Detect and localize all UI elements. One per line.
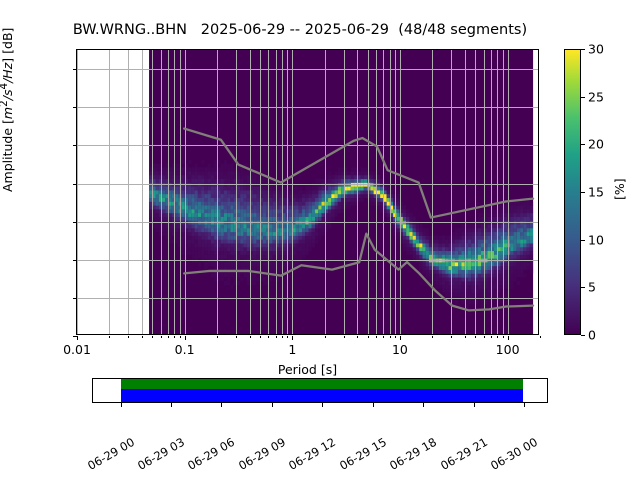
noise-model-curves [77, 50, 538, 334]
time-band-blue [121, 389, 523, 402]
x-axis-tick [250, 336, 251, 338]
x-axis-tick [508, 336, 509, 340]
x-axis-tick [217, 336, 218, 338]
x-axis-tick [142, 336, 143, 338]
x-axis-tick [268, 336, 269, 338]
time-axis-tick-label: 06-29 18 [387, 435, 439, 473]
y-axis-tick [73, 145, 77, 146]
y-axis-tick [73, 336, 77, 337]
time-axis-tick [171, 403, 172, 407]
colorbar-label: [%] [612, 178, 627, 200]
x-axis-tick [260, 336, 261, 338]
x-axis-tick [390, 336, 391, 338]
colorbar-tick-label: 30 [588, 42, 604, 57]
colorbar-tick [581, 335, 585, 336]
y-axis-tick [73, 298, 77, 299]
time-axis-tick-label: 06-29 12 [287, 435, 339, 473]
x-axis-label: Period [s] [77, 362, 538, 377]
y-axis-tick [73, 107, 77, 108]
x-axis-tick [368, 336, 369, 338]
x-axis-tick-label: 0.1 [175, 342, 195, 357]
time-axis-tick [322, 403, 323, 407]
x-axis-tick [475, 336, 476, 338]
colorbar-tick-label: 5 [588, 280, 596, 295]
colorbar-tick [581, 240, 585, 241]
colorbar-tick-label: 10 [588, 232, 604, 247]
time-axis-tick-label: 06-29 09 [236, 435, 288, 473]
x-axis-tick [185, 336, 186, 340]
x-axis-tick [484, 336, 485, 338]
time-coverage-canvas [93, 379, 547, 402]
y-axis-tick [73, 184, 77, 185]
x-axis-tick [77, 336, 78, 340]
x-axis-tick-label: 100 [496, 342, 520, 357]
x-axis-tick [292, 336, 293, 340]
x-axis-tick [109, 336, 110, 338]
x-axis-tick [287, 336, 288, 338]
y-axis-label-text: Amplitude [m2/s4/Hz] [dB] [0, 28, 15, 192]
ppsd-plot-area: 0.010.1110100 −60−80−100−120−140−160−180… [76, 49, 539, 335]
colorbar-tick-label: 0 [588, 328, 596, 343]
time-axis-tick-label: 06-29 03 [135, 435, 187, 473]
time-axis-tick [524, 403, 525, 407]
x-axis-tick [376, 336, 377, 338]
x-axis-tick [451, 336, 452, 338]
x-axis-tick [282, 336, 283, 338]
x-axis-tick [497, 336, 498, 338]
x-axis-tick-label: 10 [392, 342, 408, 357]
time-axis-tick [423, 403, 424, 407]
x-axis-tick [465, 336, 466, 338]
x-axis-tick [432, 336, 433, 338]
x-axis-tick [357, 336, 358, 338]
x-axis-tick-label: 0.01 [63, 342, 91, 357]
x-axis-tick [161, 336, 162, 338]
time-band-green [121, 379, 523, 389]
x-axis-tick [344, 336, 345, 338]
x-axis-tick [325, 336, 326, 338]
ppsd-canvas [77, 50, 538, 334]
colorbar-tick-label: 20 [588, 137, 604, 152]
x-axis-tick [276, 336, 277, 338]
colorbar-tick [581, 49, 585, 50]
x-axis-tick [236, 336, 237, 338]
x-axis-tick [128, 336, 129, 338]
colorbar [564, 49, 581, 335]
x-axis-tick [174, 336, 175, 338]
x-axis-tick [383, 336, 384, 338]
time-axis-tick-label: 06-30 00 [488, 435, 540, 473]
y-axis-tick [73, 222, 77, 223]
x-axis-tick [491, 336, 492, 338]
colorbar-tick [581, 287, 585, 288]
page-title: BW.WRNG..BHN 2025-06-29 -- 2025-06-29 (4… [0, 22, 600, 38]
time-axis-tick-label: 06-29 15 [337, 435, 389, 473]
colorbar-tick [581, 97, 585, 98]
time-axis-tick-label: 06-29 00 [85, 435, 137, 473]
x-axis-tick [540, 336, 541, 338]
x-axis-tick [400, 336, 401, 340]
colorbar-tick [581, 144, 585, 145]
x-axis-tick-label: 1 [288, 342, 296, 357]
time-axis-tick [474, 403, 475, 407]
x-axis-tick [395, 336, 396, 338]
time-axis-tick [121, 403, 122, 407]
time-axis-tick [373, 403, 374, 407]
time-axis-tick [221, 403, 222, 407]
ppsd-figure: BW.WRNG..BHN 2025-06-29 -- 2025-06-29 (4… [0, 0, 640, 480]
x-axis-tick [152, 336, 153, 338]
time-axis-tick-label: 06-29 06 [186, 435, 238, 473]
y-axis-label: Amplitude [m2/s4/Hz] [dB] [0, 28, 15, 192]
noise-model-nhnm [184, 129, 533, 218]
time-coverage-bar [92, 378, 548, 403]
y-axis-tick [73, 69, 77, 70]
time-axis-tick-label: 06-29 21 [438, 435, 490, 473]
colorbar-tick-label: 15 [588, 185, 604, 200]
colorbar-tick-label: 25 [588, 89, 604, 104]
noise-model-nlnm [184, 234, 533, 311]
x-axis-tick [168, 336, 169, 338]
colorbar-tick [581, 192, 585, 193]
x-axis-tick [503, 336, 504, 338]
x-axis-tick [180, 336, 181, 338]
y-axis-tick [73, 260, 77, 261]
time-axis-tick [272, 403, 273, 407]
